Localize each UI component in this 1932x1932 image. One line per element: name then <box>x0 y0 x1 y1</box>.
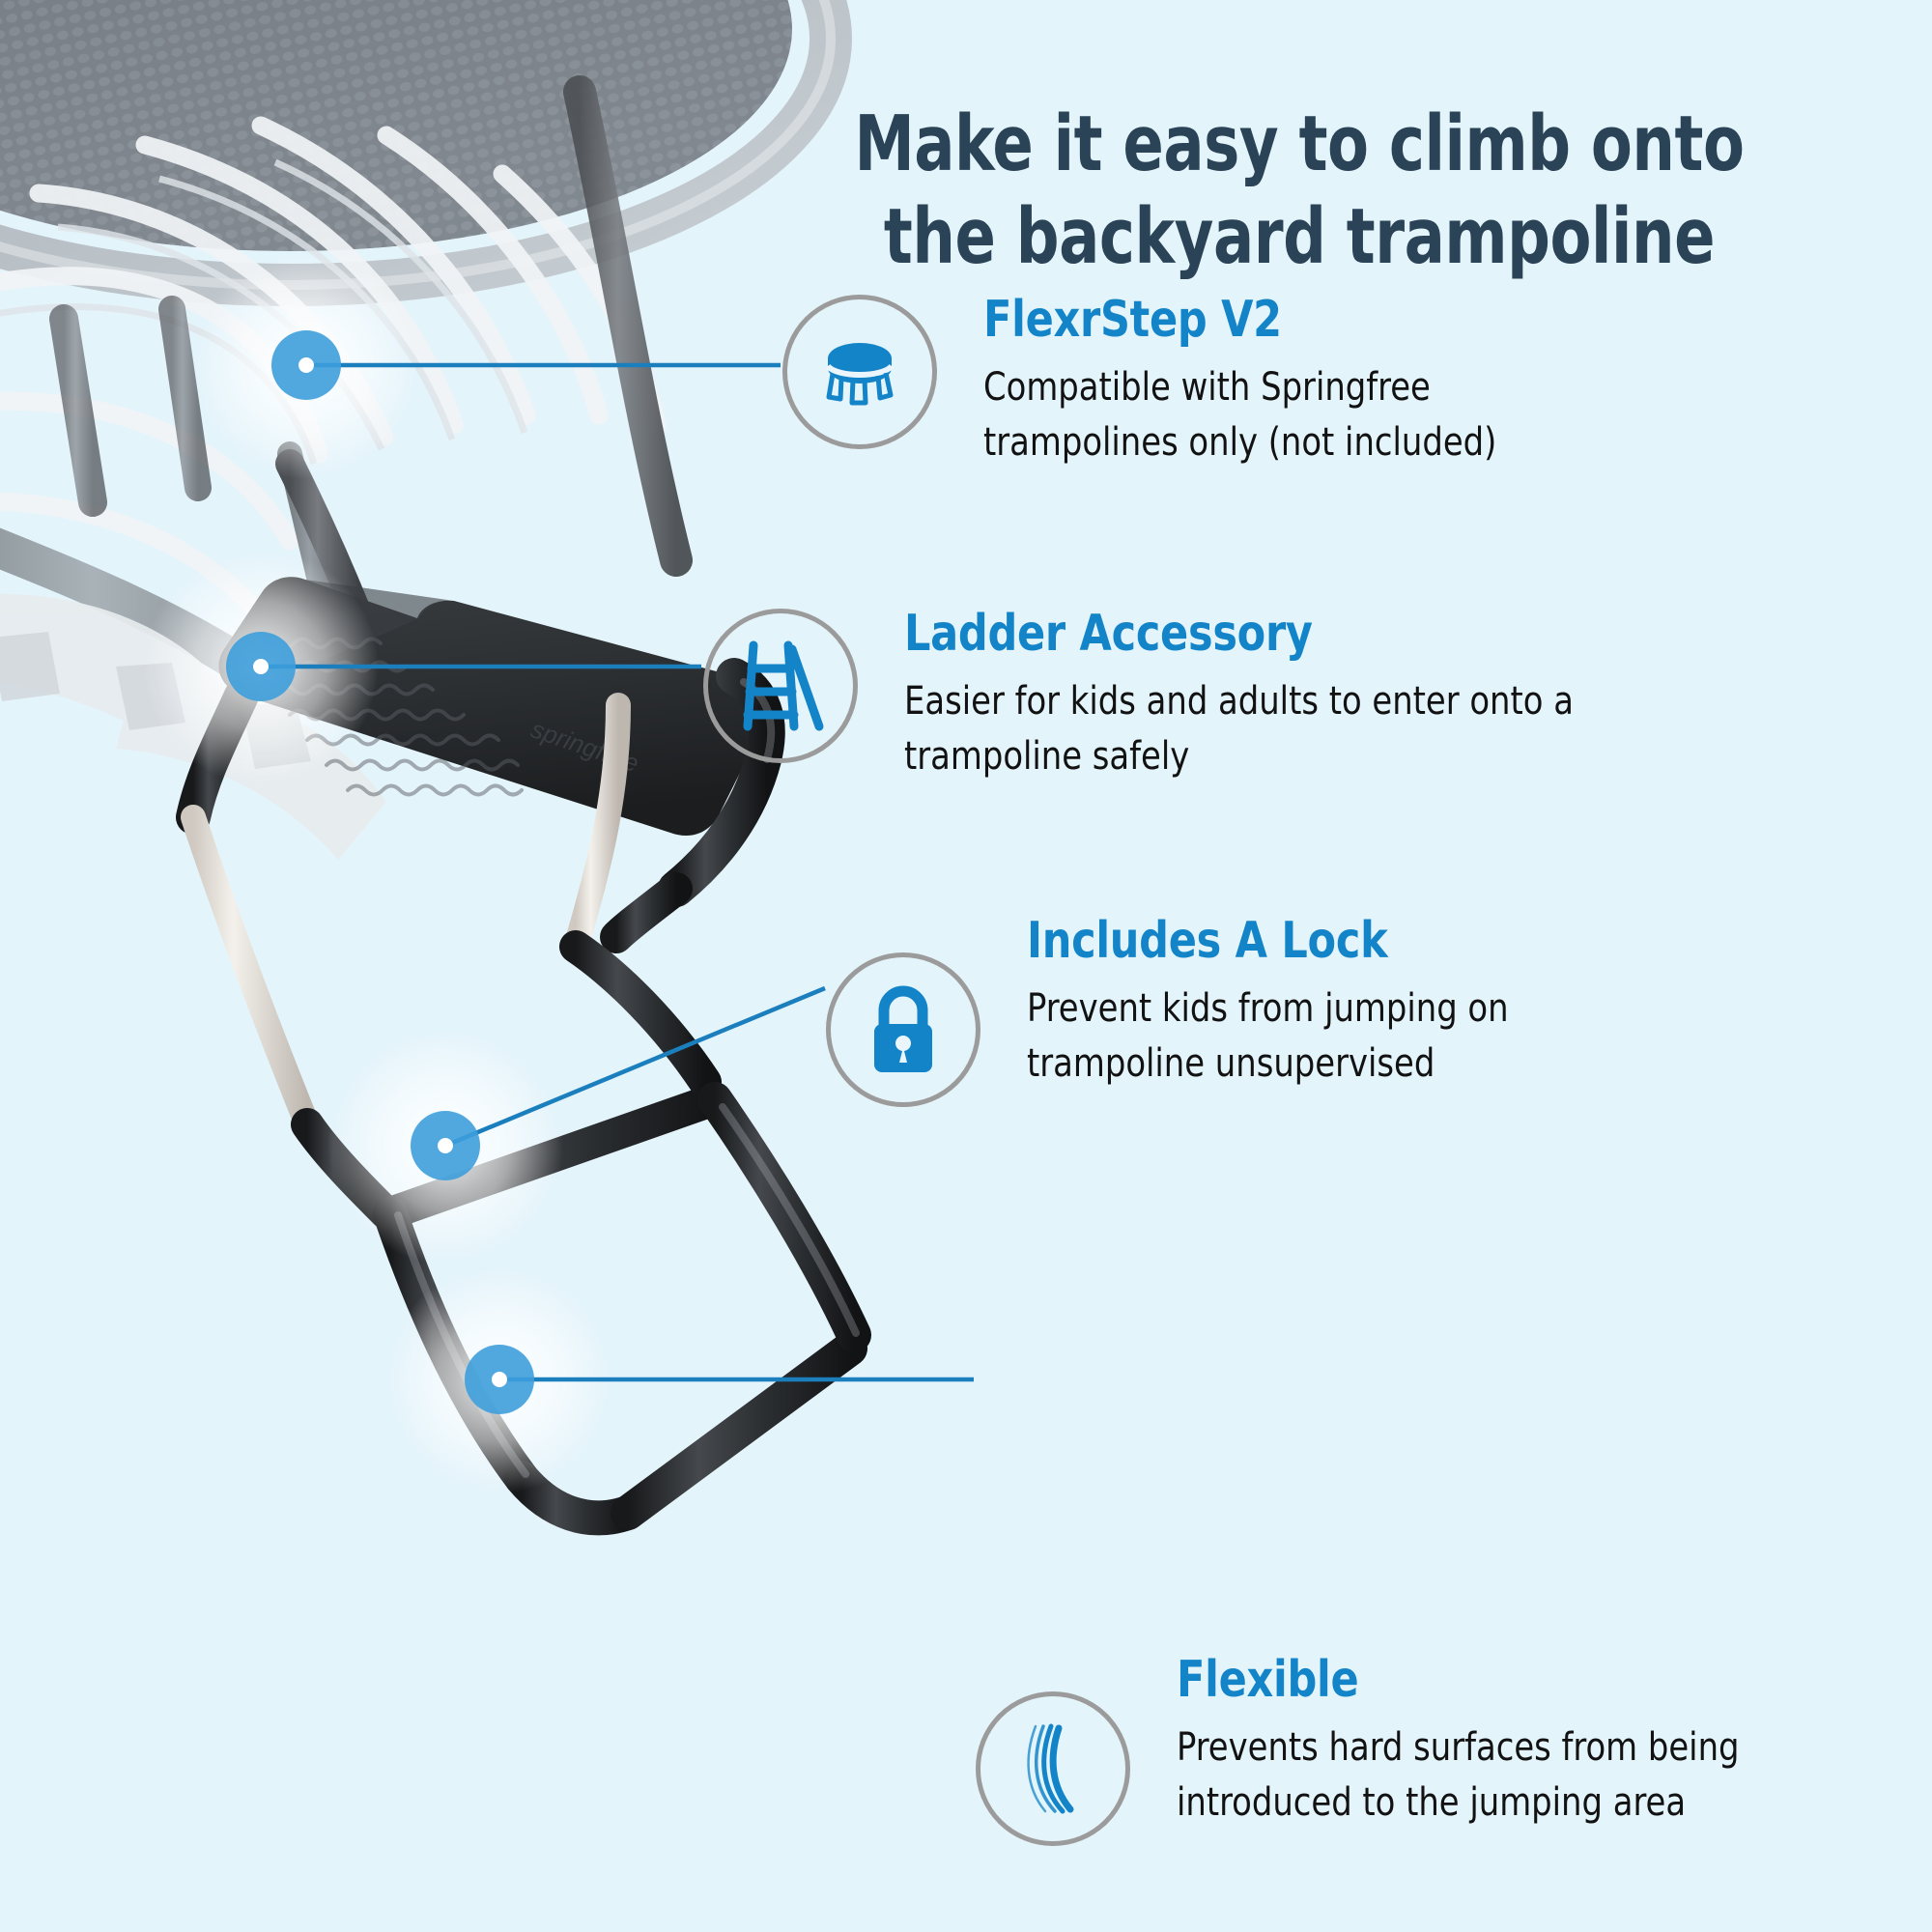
connector-line-lock <box>445 988 825 1146</box>
feature-block-flexrstep-v2: FlexrStep V2 Compatible with Springfree … <box>782 287 1529 470</box>
feature-icon-ring <box>976 1691 1130 1846</box>
feature-block-includes-a-lock: Includes A Lock Prevent kids from jumpin… <box>826 908 1539 1107</box>
feature-icon-ring <box>782 295 937 449</box>
feature-description-line-1: Easier for kids and adults to enter onto… <box>904 674 1574 729</box>
feature-description-line-2: trampoline unsupervised <box>1027 1037 1509 1092</box>
marker-ladder <box>226 632 296 701</box>
feature-description: Prevent kids from jumping on trampoline … <box>1027 981 1509 1092</box>
feature-description-line-1: Prevents hard surfaces from being <box>1177 1720 1740 1776</box>
headline-line-1: Make it easy to climb onto <box>751 98 1847 190</box>
feature-block-flexible: Flexible Prevents hard surfaces from bei… <box>976 1647 1776 1846</box>
feature-description-line-1: Prevent kids from jumping on <box>1027 981 1509 1037</box>
page-title: Make it easy to climb onto the backyard … <box>751 98 1847 284</box>
headline-line-2: the backyard trampoline <box>751 190 1847 283</box>
feature-title: Includes A Lock <box>1027 914 1498 968</box>
feature-description: Compatible with Springfree trampolines o… <box>983 360 1496 470</box>
feature-block-ladder-accessory: Ladder Accessory Easier for kids and adu… <box>703 601 1616 784</box>
flex-arcs-icon <box>1007 1719 1099 1819</box>
feature-title: Ladder Accessory <box>904 607 1559 661</box>
feature-description-line-2: trampoline safely <box>904 729 1574 784</box>
feature-icon-ring <box>826 952 980 1107</box>
feature-description-line-2: trampolines only (not included) <box>983 415 1496 470</box>
feature-text: Includes A Lock Prevent kids from jumpin… <box>1027 908 1539 1092</box>
feature-title: Flexible <box>1177 1653 1727 1707</box>
feature-text: FlexrStep V2 Compatible with Springfree … <box>983 287 1529 470</box>
infographic-canvas: springfree <box>0 0 1932 1932</box>
feature-text: Flexible Prevents hard surfaces from bei… <box>1177 1647 1776 1831</box>
ladder-icon <box>732 636 829 736</box>
marker-flexible <box>465 1345 534 1414</box>
feature-text: Ladder Accessory Easier for kids and adu… <box>904 601 1616 784</box>
trampoline-icon <box>810 322 910 422</box>
lock-icon <box>859 980 948 1080</box>
feature-description-line-2: introduced to the jumping area <box>1177 1776 1740 1831</box>
marker-flexrstep <box>271 330 341 400</box>
feature-description: Easier for kids and adults to enter onto… <box>904 674 1574 784</box>
feature-description-line-1: Compatible with Springfree <box>983 360 1496 415</box>
feature-icon-ring <box>703 609 858 763</box>
feature-description: Prevents hard surfaces from being introd… <box>1177 1720 1740 1831</box>
feature-title: FlexrStep V2 <box>983 293 1486 347</box>
marker-lock <box>411 1111 480 1180</box>
